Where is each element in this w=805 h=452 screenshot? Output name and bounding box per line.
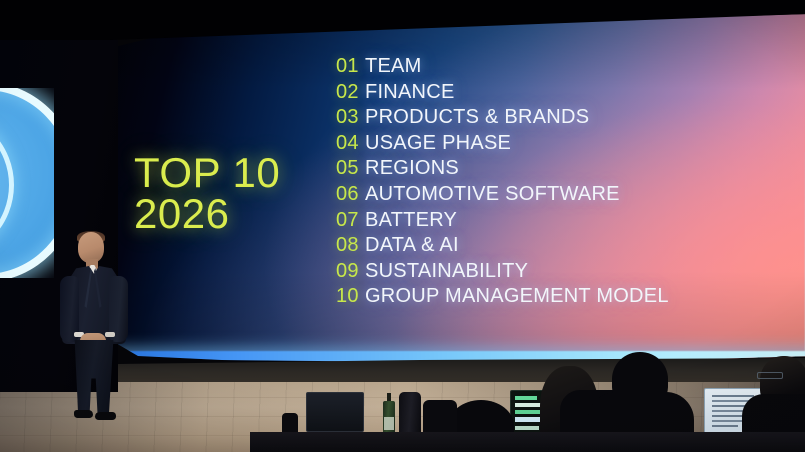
agenda-item-label: USAGE PHASE bbox=[365, 132, 511, 155]
agenda-item-label: TEAM bbox=[365, 55, 422, 78]
agenda-item: 01TEAM bbox=[336, 55, 669, 81]
agenda-item: 10GROUP MANAGEMENT MODEL bbox=[336, 285, 669, 311]
laptop-2-text-line bbox=[515, 410, 543, 414]
presenter-shoe-left bbox=[74, 410, 93, 418]
agenda-item-label: BATTERY bbox=[365, 209, 457, 232]
agenda-item-label: PRODUCTS & BRANDS bbox=[365, 106, 589, 129]
agenda-item: 05REGIONS bbox=[336, 157, 669, 183]
agenda-item-number: 06 bbox=[336, 183, 365, 206]
presenter-trousers bbox=[72, 340, 116, 414]
presenter-figure bbox=[48, 232, 140, 424]
slide-agenda-list: 01TEAM02FINANCE03PRODUCTS & BRANDS04USAG… bbox=[336, 55, 669, 311]
agenda-item-label: DATA & AI bbox=[365, 234, 459, 257]
agenda-item: 04USAGE PHASE bbox=[336, 132, 669, 158]
press-desk bbox=[250, 432, 805, 452]
agenda-item: 07BATTERY bbox=[336, 209, 669, 235]
agenda-item-number: 04 bbox=[336, 132, 365, 155]
agenda-item-number: 07 bbox=[336, 209, 365, 232]
agenda-item-label: GROUP MANAGEMENT MODEL bbox=[365, 285, 669, 308]
agenda-item-number: 03 bbox=[336, 106, 365, 129]
laptop-1-screen bbox=[306, 392, 364, 432]
bottle-label bbox=[384, 417, 394, 430]
agenda-item-number: 05 bbox=[336, 157, 365, 180]
agenda-item: 03PRODUCTS & BRANDS bbox=[336, 106, 669, 132]
circular-ring-graphic bbox=[0, 88, 54, 278]
laptop-2-text-line bbox=[515, 426, 539, 430]
agenda-item-label: SUSTAINABILITY bbox=[365, 260, 528, 283]
slide-headline: TOP 10 2026 bbox=[134, 152, 280, 234]
laptop-3-text-line bbox=[712, 395, 754, 397]
laptop-3-text-line bbox=[712, 425, 738, 427]
agenda-item-number: 08 bbox=[336, 234, 365, 257]
keynote-stage-scene: TOP 10 2026 01TEAM02FINANCE03PRODUCTS & … bbox=[0, 0, 805, 452]
laptop-3-text-line bbox=[712, 415, 742, 417]
laptop-3-text-line bbox=[712, 405, 748, 407]
agenda-item-number: 09 bbox=[336, 260, 365, 283]
agenda-item: 02FINANCE bbox=[336, 81, 669, 107]
agenda-item: 09SUSTAINABILITY bbox=[336, 260, 669, 286]
laptop-2-text-line bbox=[515, 396, 537, 400]
agenda-item-label: AUTOMOTIVE SOFTWARE bbox=[365, 183, 620, 206]
agenda-item-number: 01 bbox=[336, 55, 365, 78]
agenda-item: 06AUTOMOTIVE SOFTWARE bbox=[336, 183, 669, 209]
eyeglasses bbox=[757, 372, 783, 379]
agenda-item-label: FINANCE bbox=[365, 81, 455, 104]
presenter-shoe-right bbox=[95, 412, 116, 420]
agenda-item: 08DATA & AI bbox=[336, 234, 669, 260]
presenter-cuff-right bbox=[105, 332, 115, 337]
agenda-item-label: REGIONS bbox=[365, 157, 459, 180]
agenda-item-number: 02 bbox=[336, 81, 365, 104]
agenda-item-number: 10 bbox=[336, 285, 365, 308]
